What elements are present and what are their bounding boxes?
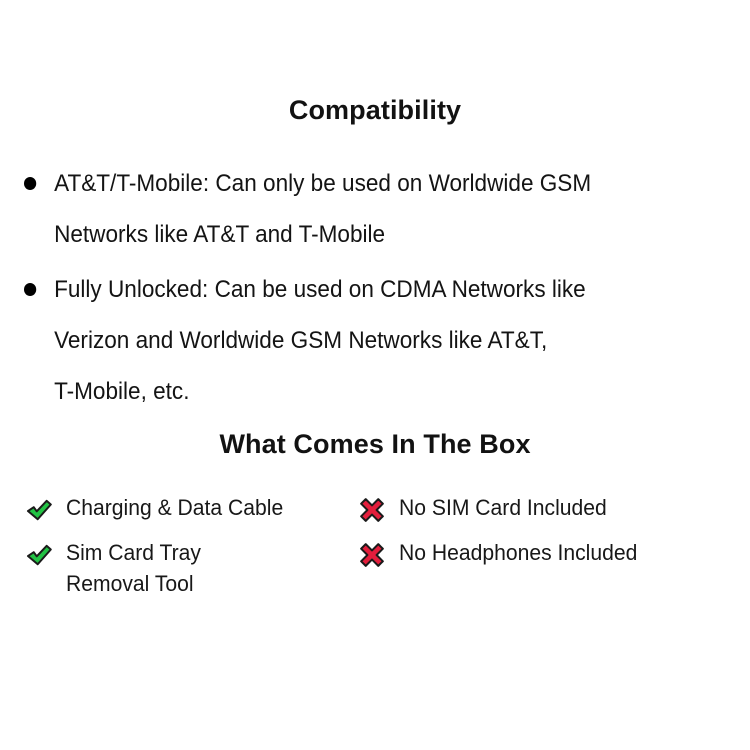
bullet-dot-icon <box>24 177 36 190</box>
cross-icon <box>357 540 387 570</box>
check-icon <box>24 495 54 525</box>
not-included-item-label: No Headphones Included <box>399 537 637 568</box>
list-item: Sim Card Tray Removal Tool <box>24 537 355 599</box>
list-item: No Headphones Included <box>357 537 750 570</box>
not-included-column: No SIM Card Included No Headphones Inclu… <box>355 492 750 570</box>
whats-in-the-box-heading: What Comes In The Box <box>0 428 750 460</box>
list-item: Charging & Data Cable <box>24 492 355 525</box>
included-column: Charging & Data Cable Sim Card Tray Remo… <box>0 492 355 599</box>
product-info-page: Compatibility AT&T/T-Mobile: Can only be… <box>0 0 750 750</box>
bullet-dot-icon <box>24 283 36 296</box>
list-item: No SIM Card Included <box>357 492 750 525</box>
cross-icon <box>357 495 387 525</box>
compatibility-heading: Compatibility <box>0 94 750 126</box>
compatibility-list: AT&T/T-Mobile: Can only be used on World… <box>24 158 734 417</box>
not-included-item-label: No SIM Card Included <box>399 492 607 523</box>
whats-in-the-box-grid: Charging & Data Cable Sim Card Tray Remo… <box>0 492 750 599</box>
list-item: Fully Unlocked: Can be used on CDMA Netw… <box>24 264 691 417</box>
compatibility-item-text: AT&T/T-Mobile: Can only be used on World… <box>54 158 691 260</box>
included-item-label: Charging & Data Cable <box>66 492 283 523</box>
list-item: AT&T/T-Mobile: Can only be used on World… <box>24 158 691 260</box>
included-item-label: Sim Card Tray Removal Tool <box>66 537 201 599</box>
compatibility-item-text: Fully Unlocked: Can be used on CDMA Netw… <box>54 264 691 417</box>
check-icon <box>24 540 54 570</box>
